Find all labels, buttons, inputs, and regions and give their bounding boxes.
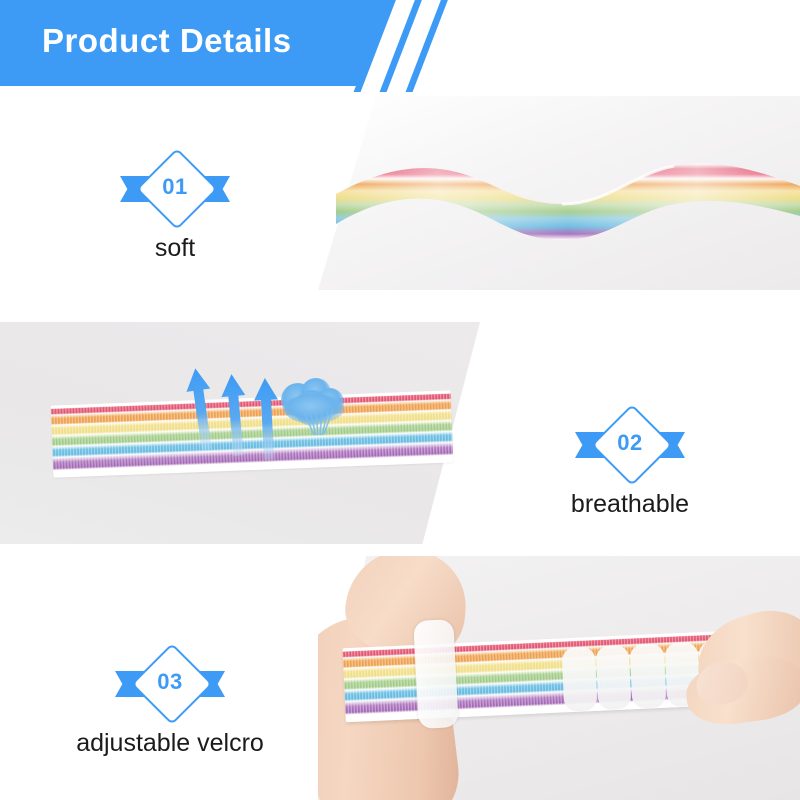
- page-title: Product Details: [42, 22, 292, 60]
- feature-badge-03: 03 adjustable velcro: [60, 643, 280, 758]
- feature-badge-02: 02 breathable: [520, 404, 740, 519]
- velcro-patch: [562, 646, 598, 711]
- velcro-patch: [630, 643, 666, 708]
- band-highlight: [336, 163, 800, 240]
- band-weave-texture: [51, 390, 453, 477]
- product-details-infographic: Product Details: [0, 0, 800, 800]
- badge-number: 02: [575, 404, 685, 482]
- twisted-band-graphic: [336, 100, 800, 288]
- feature-label: soft: [65, 234, 285, 263]
- photo-flat-band: [51, 390, 453, 477]
- feature-label: breathable: [520, 490, 740, 519]
- feature-label: adjustable velcro: [60, 729, 280, 758]
- badge-number: 01: [120, 148, 230, 226]
- feature-badge-01: 01 soft: [65, 148, 285, 263]
- badge-mark: 03: [115, 643, 225, 721]
- keeper-loop: [413, 619, 459, 729]
- badge-mark: 02: [575, 404, 685, 482]
- header-banner: Product Details: [0, 0, 800, 92]
- velcro-patch: [596, 645, 632, 710]
- badge-mark: 01: [120, 148, 230, 226]
- fingers: [680, 614, 800, 764]
- badge-number: 03: [115, 643, 225, 721]
- photo-twisted-band: [336, 100, 800, 288]
- photo-wrist-band: [318, 556, 800, 800]
- moisture-cloud-icon: [274, 378, 352, 436]
